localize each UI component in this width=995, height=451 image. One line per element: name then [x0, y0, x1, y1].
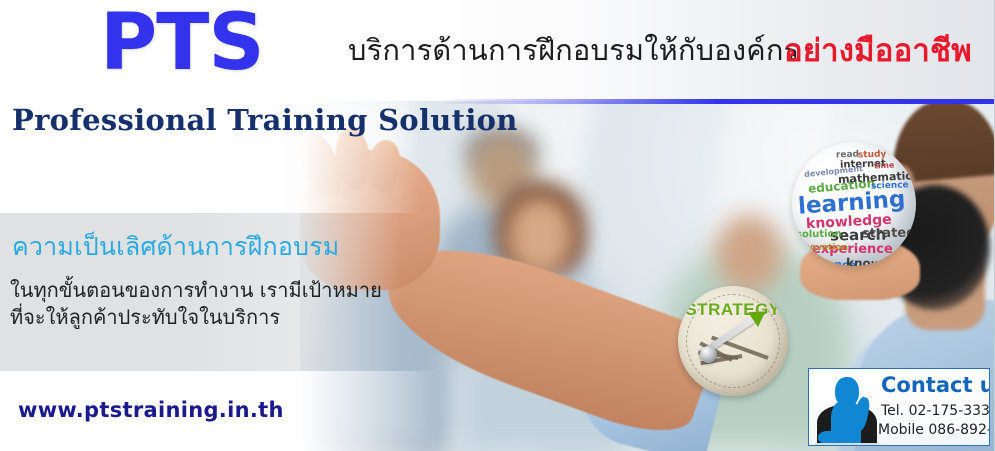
contact-telephone: Tel. 02-175-3330 — [881, 403, 990, 419]
operator-desk — [815, 443, 879, 446]
sphere-word: science — [871, 181, 909, 191]
sphere-word: strategy — [862, 226, 916, 240]
contact-box[interactable]: Contact us Tel. 02-175-3330 Mobile 086-8… — [808, 368, 990, 446]
sphere-word: knowledge — [846, 257, 916, 266]
slogan-body: ในทุกขั้นตอนของการทำงาน เรามีเป้าหมาย ที… — [10, 277, 410, 331]
sphere-word: solution — [796, 230, 842, 241]
strategy-compass-icon: STRATEGY — [678, 286, 788, 396]
sphere-word: innovation — [794, 244, 848, 253]
learning-sphere-icon: learningknowledgeeducationmathematicsint… — [792, 142, 916, 266]
compass-word-label: STRATEGY — [678, 300, 788, 320]
logo-pts-mark: PTS — [100, 4, 264, 82]
header-tagline-emphasis: อย่างมืออาชีพ — [784, 25, 972, 75]
sphere-word: time — [874, 161, 895, 170]
sphere-word: read — [836, 151, 859, 161]
headset-operator-icon — [815, 375, 879, 445]
header-tagline-primary: บริการด้านการฝึกอบรมให้กับองค์กร — [348, 27, 799, 73]
slogan-body-line-2: ที่จะให้ลูกค้าประทับใจในบริการ — [10, 304, 410, 331]
contact-mobile: Mobile 086-892-9330 — [878, 422, 990, 438]
sphere-word: study — [858, 151, 887, 161]
slogan-heading: ความเป็นเลิศด้านการฝึกอบรม — [12, 227, 339, 267]
pts-training-banner: STRATEGY learningknowledgeeducationmathe… — [0, 0, 995, 451]
left-panel-bottom-fade — [300, 371, 440, 451]
contact-title: Contact us — [881, 373, 990, 397]
logo-subtitle: Professional Training Solution — [12, 103, 518, 137]
blurred-person-right-head — [716, 215, 782, 293]
slogan-body-line-1: ในทุกขั้นตอนของการทำงาน เรามีเป้าหมาย — [10, 277, 410, 304]
operator-head — [835, 377, 859, 407]
website-url[interactable]: www.ptstraining.in.th — [18, 398, 284, 422]
compass-hub — [700, 346, 717, 363]
sphere-word: school — [794, 259, 823, 266]
